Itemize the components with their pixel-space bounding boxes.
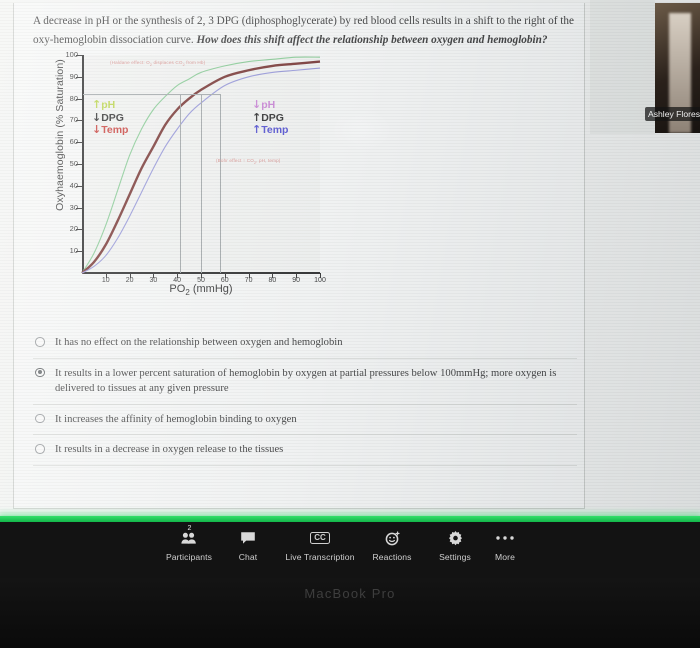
chart-legend-left: ↑pH ↓DPG ↓Temp bbox=[92, 99, 128, 137]
legend-left-label-0: pH bbox=[101, 99, 115, 111]
arrow-down-icon: ↓ bbox=[92, 123, 101, 136]
answer-option[interactable]: It has no effect on the relationship bet… bbox=[33, 328, 577, 359]
arrow-up-icon: ↑ bbox=[252, 111, 261, 124]
participant-name-label: Ashley Flores bbox=[645, 107, 700, 121]
laptop-photo: A decrease in pH or the synthesis of 2, … bbox=[0, 0, 700, 648]
question-emphasis: How does this shift affect the relations… bbox=[196, 34, 547, 46]
reference-line-vertical bbox=[180, 94, 181, 273]
ellipsis-icon bbox=[459, 527, 551, 549]
chart-curves bbox=[44, 55, 324, 295]
quiz-question-card: A decrease in pH or the synthesis of 2, … bbox=[13, 3, 585, 509]
legend-left-label-1: DPG bbox=[101, 112, 124, 124]
legend-left-item-2: ↓Temp bbox=[92, 124, 128, 137]
radio-button[interactable] bbox=[35, 337, 45, 347]
macbook-pro-logo-text: MacBook Pro bbox=[0, 586, 700, 601]
chart-annotation-haldane: (Haldane effect: O2 displaces CO2 from H… bbox=[110, 60, 205, 67]
answer-option[interactable]: It results in a lower percent saturation… bbox=[33, 359, 577, 405]
answer-option[interactable]: It increases the affinity of hemoglobin … bbox=[33, 405, 577, 436]
answer-options-list: It has no effect on the relationship bet… bbox=[33, 328, 577, 466]
cc-icon: CC bbox=[310, 532, 330, 544]
reference-line-vertical bbox=[220, 94, 221, 273]
chart-legend-right: ↓pH ↑DPG ↑Temp bbox=[252, 99, 288, 137]
oxyhemoglobin-dissociation-chart: Oxyhaemoglobin (% Saturation) PO2 (mmHg)… bbox=[44, 55, 324, 295]
legend-right-label-2: Temp bbox=[261, 124, 288, 136]
arrow-up-icon: ↑ bbox=[92, 98, 101, 111]
answer-option-label: It has no effect on the relationship bet… bbox=[55, 337, 343, 348]
zoom-toolbar: 2ParticipantsChatCCLive TranscriptionRea… bbox=[0, 522, 700, 578]
arrow-down-icon: ↓ bbox=[252, 98, 261, 111]
legend-right-item-2: ↑Temp bbox=[252, 124, 288, 137]
legend-right-label-0: pH bbox=[261, 99, 275, 111]
radio-button[interactable] bbox=[35, 414, 45, 424]
arrow-up-icon: ↑ bbox=[252, 123, 261, 136]
reference-line-vertical bbox=[201, 94, 202, 273]
legend-right-label-1: DPG bbox=[261, 112, 284, 124]
arrow-down-icon: ↓ bbox=[92, 111, 101, 124]
participants-count-badge: 2 bbox=[188, 525, 192, 532]
question-text: A decrease in pH or the synthesis of 2, … bbox=[33, 12, 577, 50]
toolbar-item-label: More bbox=[459, 552, 551, 562]
answer-option[interactable]: It results in a decrease in oxygen relea… bbox=[33, 435, 577, 466]
toolbar-item-more[interactable]: More bbox=[459, 527, 551, 562]
radio-button-selected[interactable] bbox=[35, 368, 45, 378]
legend-left-label-2: Temp bbox=[101, 124, 128, 136]
shared-screen: A decrease in pH or the synthesis of 2, … bbox=[0, 0, 700, 516]
chart-annotation-bohr: (Bohr effect ↑ CO2, pH, temp) bbox=[216, 158, 280, 165]
answer-option-label: It results in a decrease in oxygen relea… bbox=[55, 444, 283, 455]
radio-button[interactable] bbox=[35, 444, 45, 454]
answer-option-label: It results in a lower percent saturation… bbox=[55, 368, 556, 395]
question-line-1: A decrease in pH or the synthesis of 2, … bbox=[33, 15, 557, 27]
answer-option-label: It increases the affinity of hemoglobin … bbox=[55, 414, 297, 425]
